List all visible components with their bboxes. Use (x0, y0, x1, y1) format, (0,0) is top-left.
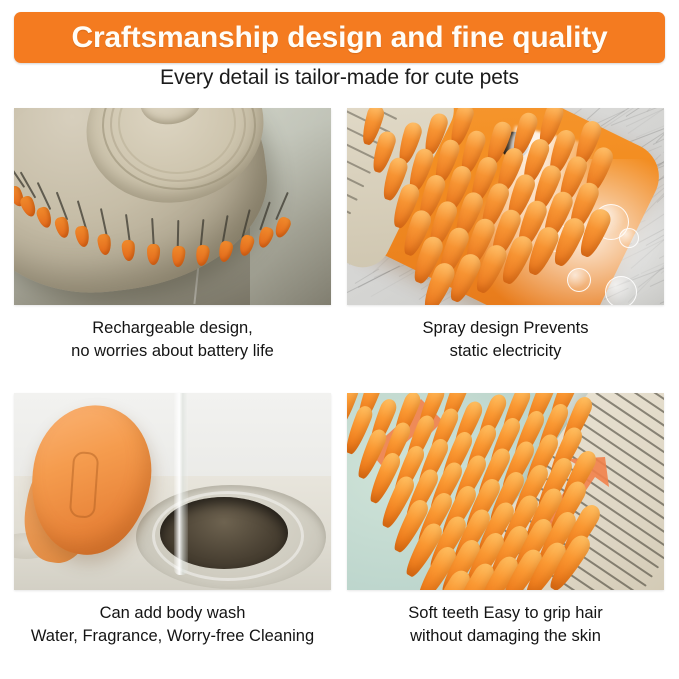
feature-image-spray (347, 108, 664, 305)
feature-image-soft-teeth (347, 393, 664, 590)
feature-card-spray: Spray design Prevents static electricity (347, 108, 664, 363)
caption-line-2: Water, Fragrance, Worry-free Cleaning (14, 625, 331, 648)
feature-caption-body-wash: Can add body wash Water, Fragrance, Worr… (14, 602, 331, 648)
feature-caption-rechargeable: Rechargeable design, no worries about ba… (14, 317, 331, 363)
cap-grip-slot (69, 451, 100, 519)
header-banner: Craftsmanship design and fine quality (14, 12, 665, 63)
feature-caption-spray: Spray design Prevents static electricity (347, 317, 664, 363)
bubble (567, 268, 591, 292)
caption-line-1: Can add body wash (100, 604, 246, 622)
bubble (605, 276, 637, 305)
caption-line-1: Soft teeth Easy to grip hair (408, 604, 602, 622)
caption-line-2: no worries about battery life (14, 340, 331, 363)
caption-line-1: Spray design Prevents (422, 319, 588, 337)
feature-image-rechargeable (14, 108, 331, 305)
product-infographic: Craftsmanship design and fine quality Ev… (0, 0, 679, 679)
water-stream (174, 393, 188, 575)
bubble (619, 228, 639, 248)
caption-line-2: without damaging the skin (347, 625, 664, 648)
feature-card-body-wash: Can add body wash Water, Fragrance, Worr… (14, 393, 331, 648)
caption-line-1: Rechargeable design, (92, 319, 253, 337)
header-subtitle: Every detail is tailor-made for cute pet… (0, 66, 679, 90)
usb-cable-graphic (14, 108, 331, 305)
feature-card-rechargeable: Rechargeable design, no worries about ba… (14, 108, 331, 363)
banner-title: Craftsmanship design and fine quality (71, 23, 607, 53)
feature-caption-soft-teeth: Soft teeth Easy to grip hair without dam… (347, 602, 664, 648)
feature-image-body-wash (14, 393, 331, 590)
feature-card-soft-teeth: Soft teeth Easy to grip hair without dam… (347, 393, 664, 648)
caption-line-2: static electricity (347, 340, 664, 363)
